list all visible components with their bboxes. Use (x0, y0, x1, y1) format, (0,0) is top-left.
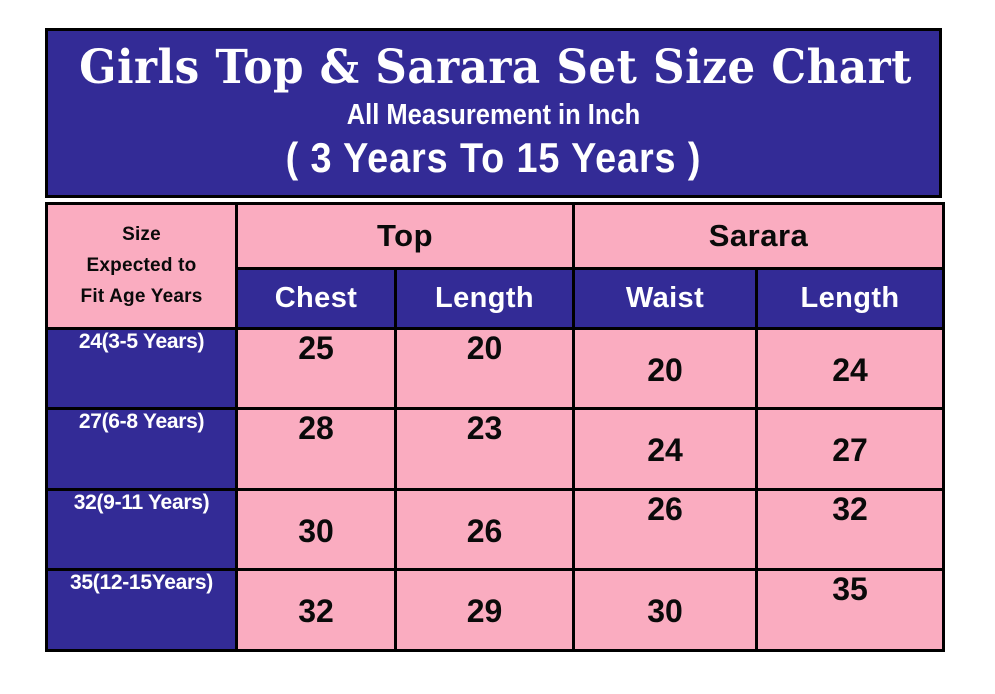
value-top-length-27: 23 (396, 409, 574, 490)
sub-header-top-length: Length (396, 268, 574, 328)
group-header-top: Top (237, 204, 574, 269)
size-chart-canvas: Girls Top & Sarara Set Size Chart All Me… (0, 0, 995, 694)
value-top-length-32: 26 (396, 489, 574, 570)
sub-header-sarara-length: Length (757, 268, 944, 328)
size-age-header-line-3: Fit Age Years (48, 281, 235, 312)
value-top-chest-35: 32 (237, 570, 396, 651)
title-banner: Girls Top & Sarara Set Size Chart All Me… (45, 28, 942, 198)
value-sarara-length-24: 24 (757, 328, 944, 409)
chart-subtitle-age-range: ( 3 Years To 15 Years ) (93, 134, 895, 182)
size-age-header-line-1: Size (48, 219, 235, 250)
row-label-size-35: 35(12-15Years) (47, 570, 237, 651)
value-top-chest-27: 28 (237, 409, 396, 490)
value-sarara-waist-35: 30 (574, 570, 757, 651)
value-top-chest-24: 25 (237, 328, 396, 409)
table-row: 24(3-5 Years) 25 20 20 24 (47, 328, 944, 409)
value-top-chest-32: 30 (237, 489, 396, 570)
row-label-size-24: 24(3-5 Years) (47, 328, 237, 409)
table-row: 32(9-11 Years) 30 26 26 32 (47, 489, 944, 570)
table-row: 35(12-15Years) 32 29 30 35 (47, 570, 944, 651)
chart-title: Girls Top & Sarara Set Size Chart (79, 40, 908, 96)
value-sarara-length-32: 32 (757, 489, 944, 570)
row-label-size-32: 32(9-11 Years) (47, 489, 237, 570)
chart-subtitle-measurement: All Measurement in Inch (101, 98, 885, 132)
value-sarara-length-35: 35 (757, 570, 944, 651)
table-row: 27(6-8 Years) 28 23 24 27 (47, 409, 944, 490)
value-sarara-waist-24: 20 (574, 328, 757, 409)
sub-header-sarara-waist: Waist (574, 268, 757, 328)
size-age-header-line-2: Expected to (48, 250, 235, 281)
value-sarara-length-27: 27 (757, 409, 944, 490)
group-header-sarara: Sarara (574, 204, 944, 269)
value-top-length-24: 20 (396, 328, 574, 409)
sub-header-top-chest: Chest (237, 268, 396, 328)
value-sarara-waist-27: 24 (574, 409, 757, 490)
value-sarara-waist-32: 26 (574, 489, 757, 570)
size-age-column-header: Size Expected to Fit Age Years (47, 204, 237, 329)
table-header-group-row: Size Expected to Fit Age Years Top Sarar… (47, 204, 944, 269)
value-top-length-35: 29 (396, 570, 574, 651)
size-chart-table: Size Expected to Fit Age Years Top Sarar… (45, 202, 945, 652)
row-label-size-27: 27(6-8 Years) (47, 409, 237, 490)
